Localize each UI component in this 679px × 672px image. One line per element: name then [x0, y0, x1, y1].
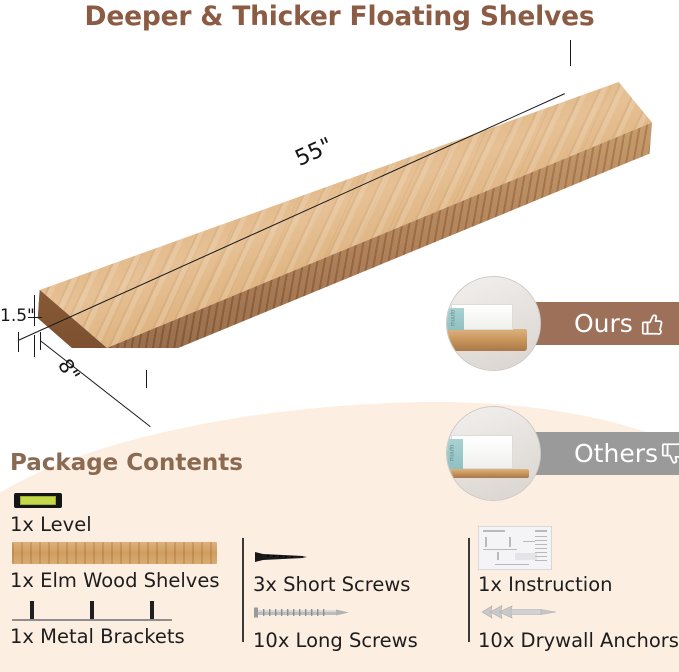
package-column-1: 1x Level 1x Elm Wood Shelves 1x Metal Br… — [10, 484, 235, 648]
thumbs-down-icon — [660, 441, 679, 467]
product-infographic: Deeper & Thicker Floating Shelves 55" 1.… — [0, 0, 679, 672]
package-item-instruction: 1x Instruction — [478, 524, 678, 596]
short-screw-icon — [253, 549, 307, 570]
drywall-anchor-icon — [478, 603, 562, 626]
others-badge-bar: Others — [518, 432, 679, 475]
package-item-label: 1x Instruction — [478, 573, 613, 596]
package-item-long-screws: 10x Long Screws — [253, 596, 463, 652]
package-item-label: 10x Drywall Anchors — [478, 629, 679, 652]
comparison-others: Others muuto — [446, 406, 679, 506]
package-item-label: 1x Level — [10, 513, 92, 536]
package-contents-heading: Package Contents — [10, 450, 243, 476]
long-screw-icon — [253, 605, 353, 626]
wood-plank-icon — [12, 542, 217, 564]
package-item-level: 1x Level — [10, 484, 235, 536]
column-divider-2 — [468, 538, 470, 642]
package-column-3: 1x Instruction 10x Drywall Anchors — [478, 524, 678, 652]
package-item-shelves: 1x Elm Wood Shelves — [10, 536, 235, 592]
ours-label: Ours — [574, 309, 633, 338]
package-item-label: 1x Elm Wood Shelves — [10, 569, 220, 592]
ours-box-text: muuto — [450, 310, 456, 327]
dimension-depth-label: 8" — [53, 354, 85, 385]
package-item-label: 3x Short Screws — [253, 573, 410, 596]
thumbs-up-icon — [640, 311, 666, 337]
dimension-thickness-label: 1.5" — [0, 306, 35, 326]
comparison-ours: Ours muuto — [446, 276, 679, 376]
bubble-level-icon — [14, 493, 62, 508]
metal-bracket-icon — [12, 597, 172, 621]
others-label: Others — [574, 439, 658, 468]
page-title: Deeper & Thicker Floating Shelves — [0, 1, 679, 32]
others-thin-shelf — [449, 469, 529, 478]
package-item-label: 1x Metal Brackets — [10, 625, 185, 648]
ours-photo: muuto — [446, 276, 541, 371]
others-photo: muuto — [446, 406, 541, 501]
package-item-brackets: 1x Metal Brackets — [10, 592, 235, 648]
others-box-text: muuto — [449, 445, 455, 462]
package-item-short-screws: 3x Short Screws — [253, 540, 463, 596]
package-item-label: 10x Long Screws — [253, 629, 418, 652]
ours-badge-bar: Ours — [518, 302, 679, 345]
column-divider-1 — [242, 538, 244, 642]
instruction-sheet-icon — [478, 526, 552, 570]
ours-thick-shelf — [446, 329, 527, 351]
package-column-2: 3x Short Screws — [253, 540, 463, 652]
package-item-drywall-anchors: 10x Drywall Anchors — [478, 596, 678, 652]
